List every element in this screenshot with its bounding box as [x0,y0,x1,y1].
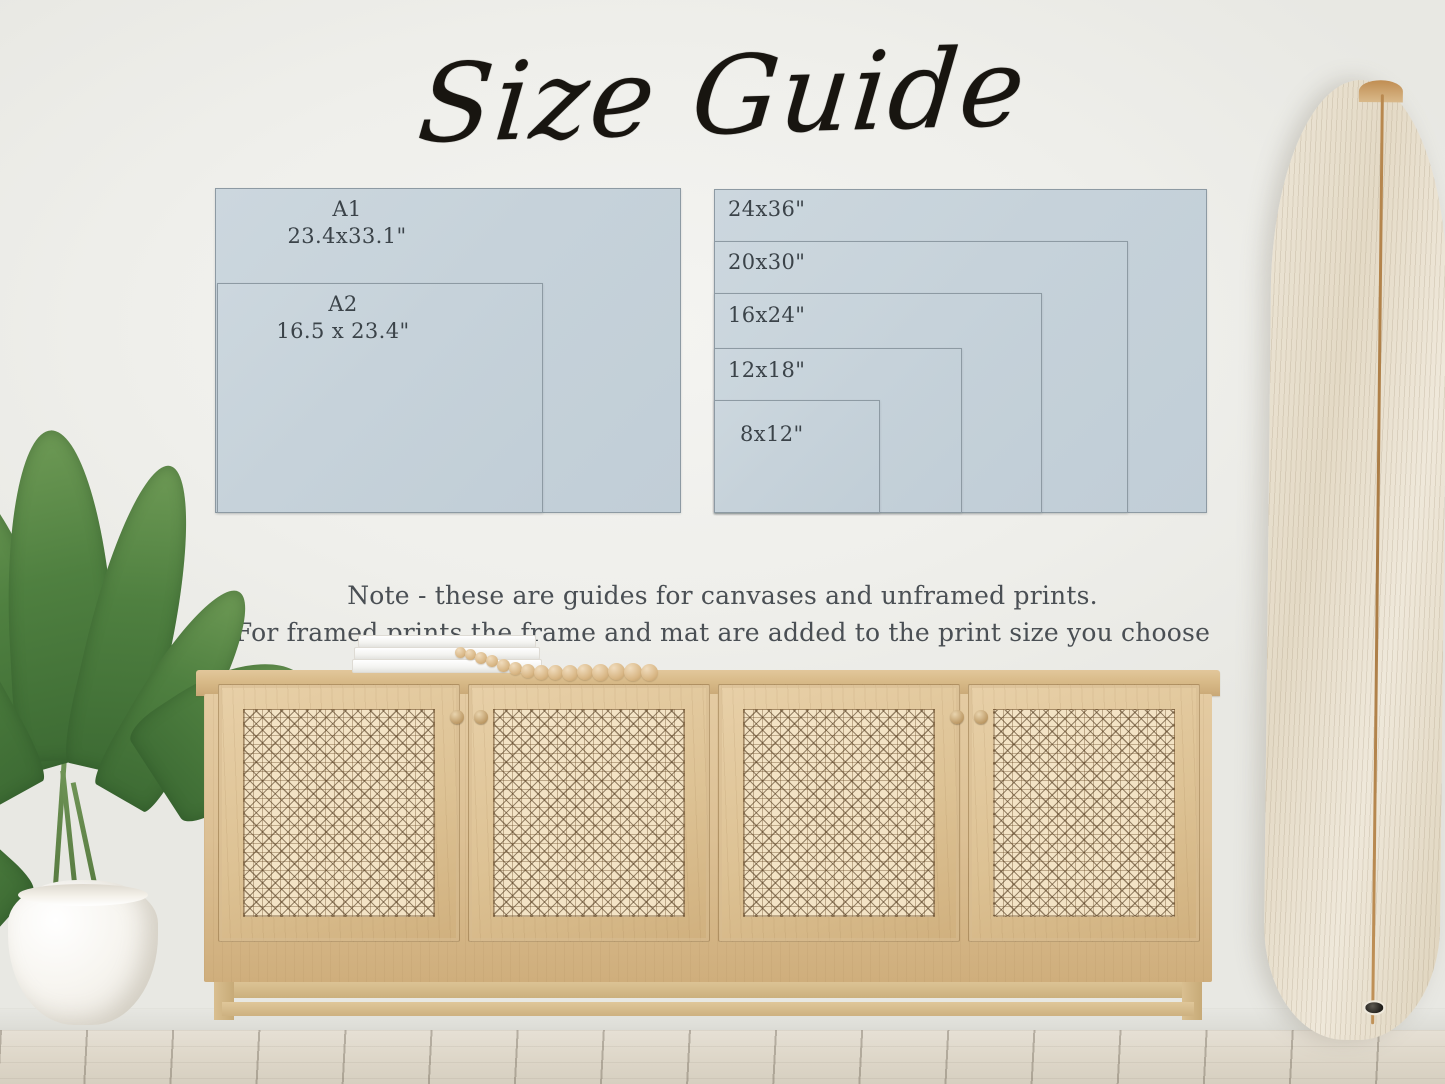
cabinet-knob[interactable] [974,710,988,724]
sideboard-rail [214,982,1202,998]
surfboard-stringer [1371,94,1384,1024]
cabinet-door-4[interactable] [968,684,1200,942]
cabinet-door-2[interactable] [468,684,710,942]
swatch-12x18-label: 12x18" [728,357,805,384]
bead [624,663,642,681]
bead [534,665,549,680]
cane-webbing-panel [743,709,935,917]
swatch-24x36-label: 24x36" [728,196,805,223]
bead [577,664,593,680]
bead [548,665,563,680]
surfboard-vent-plug [1363,1000,1385,1015]
sideboard-credenza [196,670,1220,1020]
swatch-16x24-label: 16x24" [728,302,805,329]
bead [641,664,658,681]
bead [562,665,578,681]
swatch-8x12-label: 8x12" [740,421,804,448]
sideboard-lower-shelf [222,1002,1194,1016]
swatch-20x30-label: 20x30" [728,249,805,276]
surfboard [1263,79,1445,1041]
cabinet-door-1[interactable] [218,684,460,942]
swatch-8x12[interactable] [714,400,880,513]
wooden-bead-garland [455,645,655,677]
bead [608,663,625,680]
cabinet-knob[interactable] [950,710,964,724]
cabinet-knob[interactable] [474,710,488,724]
cabinet-knob[interactable] [450,710,464,724]
cane-webbing-panel [243,709,435,917]
cabinet-door-3[interactable] [718,684,960,942]
size-guide-scene: Size Guide A1 23.4x33.1" A2 16.5 x 23.4"… [0,0,1445,1084]
cane-webbing-panel [993,709,1175,917]
bead [509,662,522,675]
bead [497,659,510,672]
bead [592,664,609,681]
cane-webbing-panel [493,709,685,917]
plant-pot-rim [18,884,148,906]
bead [521,664,535,678]
